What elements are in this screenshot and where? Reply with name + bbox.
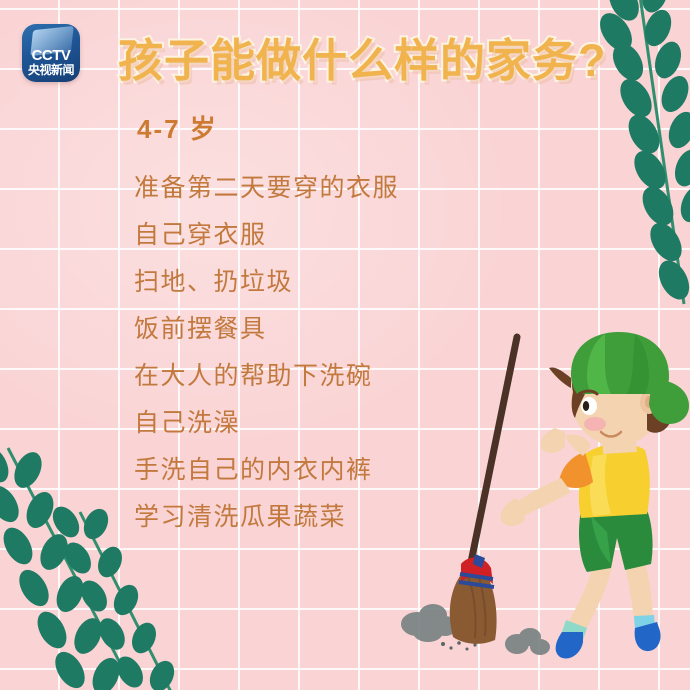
- upper-arm-shape: [517, 478, 571, 516]
- cap-brim-icon: [649, 380, 689, 424]
- list-item: 准备第二天要穿的衣服: [134, 176, 534, 201]
- hair-tuft-left: [549, 367, 571, 388]
- broom-icon: [450, 337, 517, 644]
- logo-sub-text: 央视新闻: [22, 64, 80, 76]
- cctv-news-logo: CCTV 央视新闻: [22, 24, 80, 82]
- cheek-blush: [584, 417, 606, 431]
- age-range-label: 4-7 岁: [137, 116, 218, 142]
- hand-upper-icon: [541, 428, 565, 453]
- back-shoe-icon: [556, 632, 583, 659]
- head-group: [549, 332, 689, 446]
- list-item: 自己穿衣服: [134, 223, 534, 248]
- list-item: 扫地、扔垃圾: [134, 270, 534, 295]
- boy-sweeping-illustration: [395, 332, 690, 690]
- logo-cctv-text: CCTV: [22, 48, 80, 63]
- poster-canvas: CCTV 央视新闻 孩子能做什么样的家务? 4-7 岁 准备第二天要穿的衣服 自…: [0, 0, 690, 690]
- page-title: 孩子能做什么样的家务?: [118, 38, 607, 83]
- pupil-shape: [583, 401, 589, 411]
- hand-lower-icon: [501, 498, 525, 526]
